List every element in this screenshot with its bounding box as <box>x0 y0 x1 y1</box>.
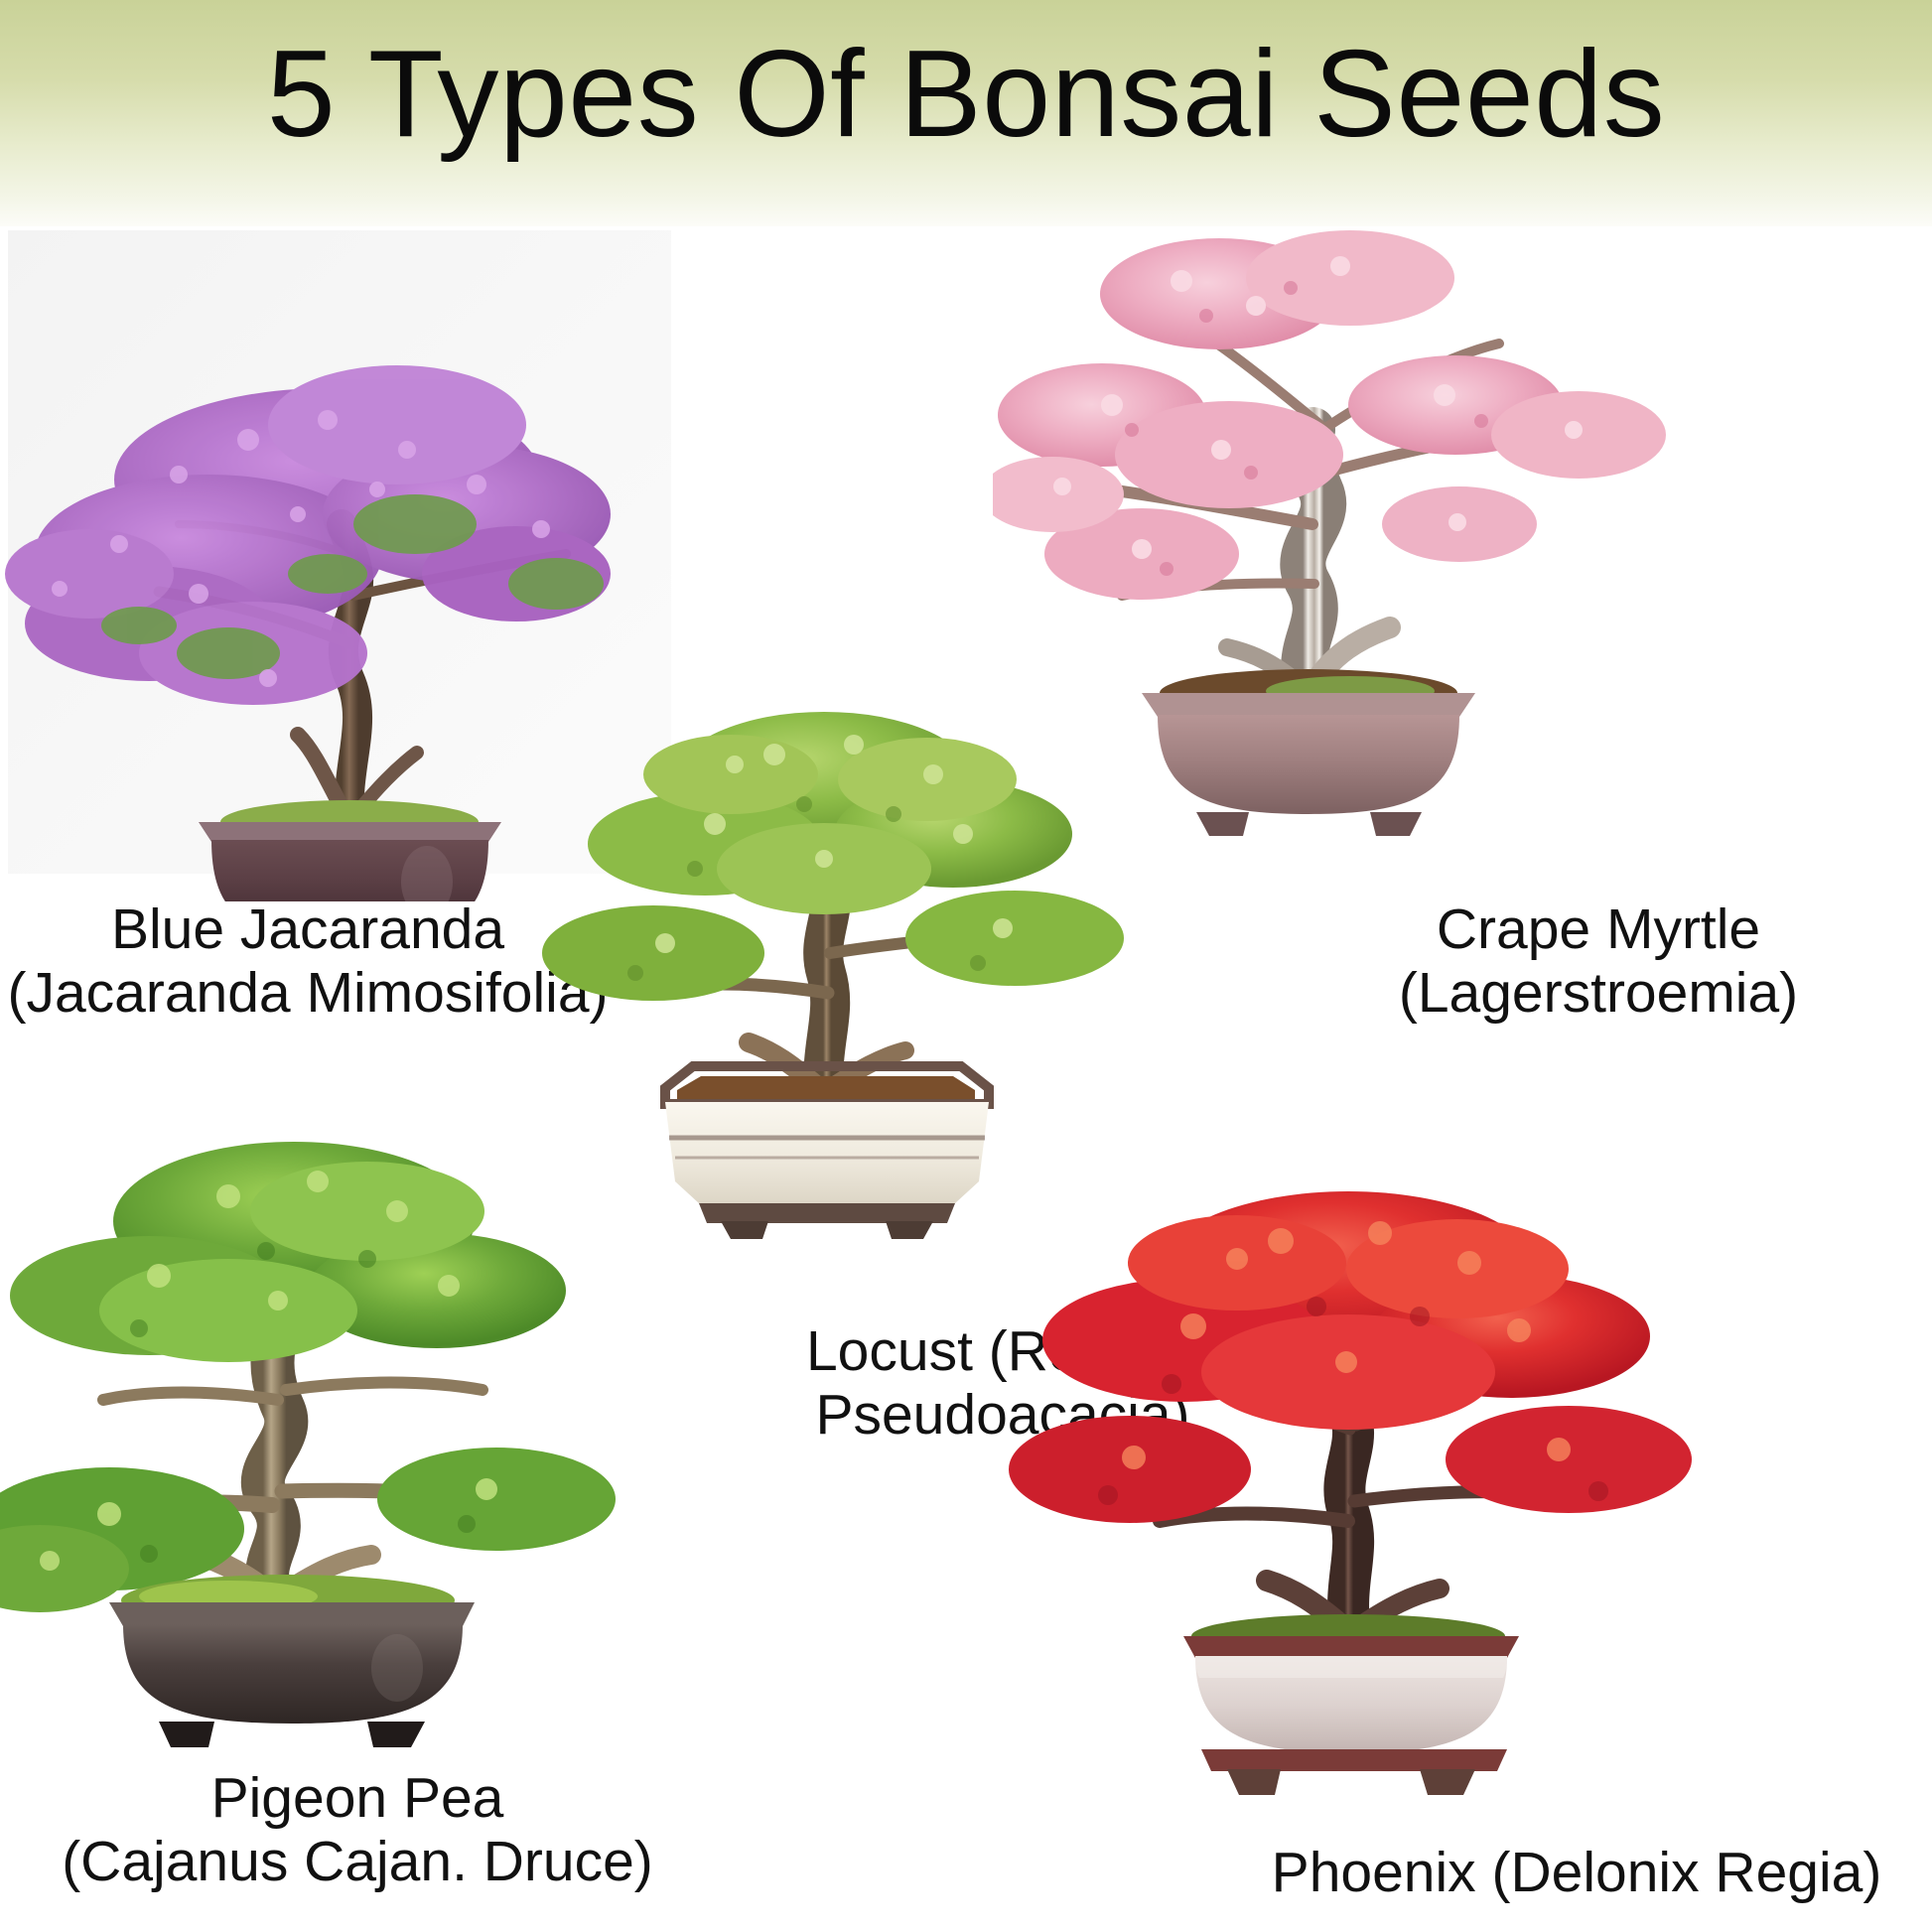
caption-text-jacaranda: Blue Jacaranda (Jacaranda Mimosifolia) <box>0 898 616 1026</box>
header-banner: 5 Types Of Bonsai Seeds <box>0 0 1932 226</box>
bonsai-pigeon-pea-image <box>0 1102 735 1777</box>
caption-phoenix: Phoenix (Delonix Regia) <box>1221 1842 1932 1905</box>
caption-jacaranda: Blue Jacaranda (Jacaranda Mimosifolia) <box>0 898 616 1026</box>
page-title: 5 Types Of Bonsai Seeds <box>0 0 1932 189</box>
tree-card-phoenix <box>1003 1142 1932 1837</box>
tree-card-jacaranda <box>0 226 596 901</box>
tree-card-pigeon-pea <box>0 1102 735 1777</box>
caption-text-pigeon-pea: Pigeon Pea (Cajanus Cajan. Druce) <box>0 1767 715 1894</box>
caption-pigeon-pea: Pigeon Pea (Cajanus Cajan. Druce) <box>0 1767 715 1894</box>
bonsai-phoenix-image <box>1003 1142 1932 1837</box>
bonsai-jacaranda-image <box>0 226 675 901</box>
caption-text-phoenix: Phoenix (Delonix Regia) <box>1221 1842 1932 1905</box>
